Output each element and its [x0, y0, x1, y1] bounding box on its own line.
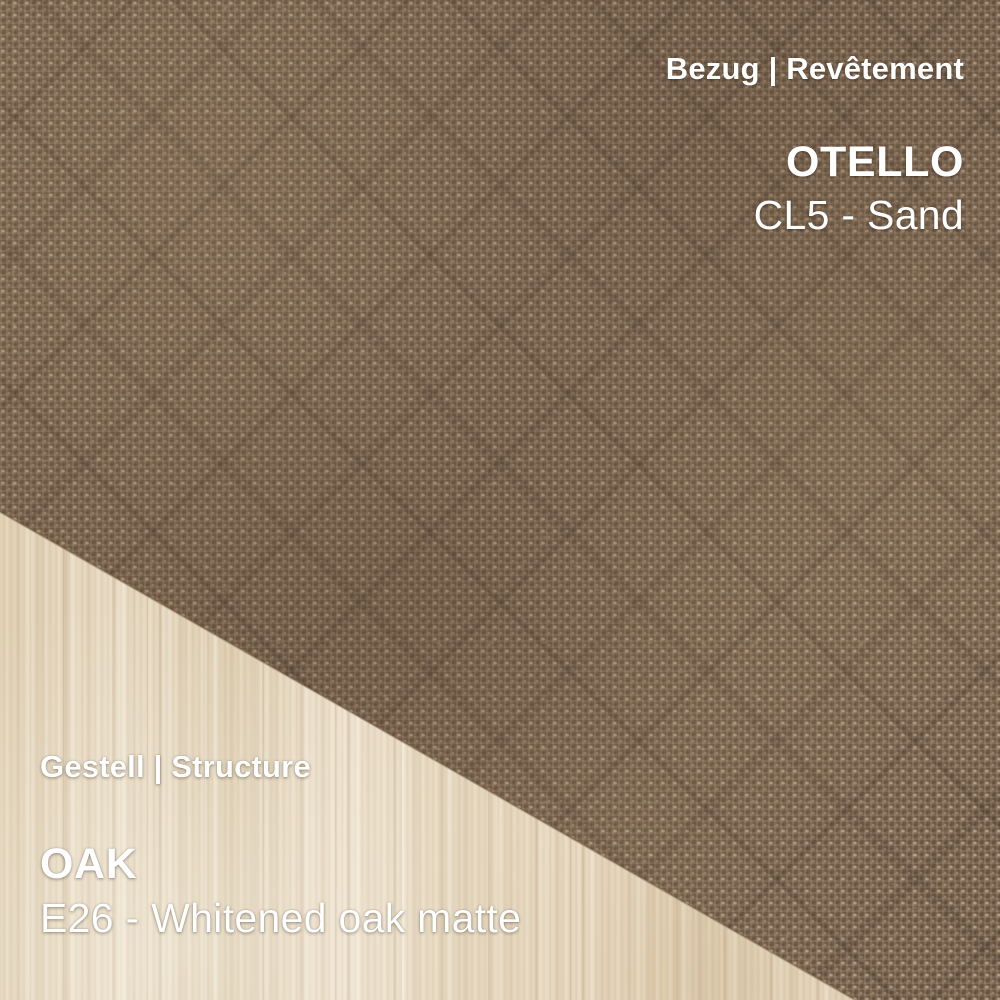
frame-code-and-finish: E26 - Whitened oak matte: [40, 896, 521, 942]
upholstery-code-and-color: CL5 - Sand: [666, 193, 964, 239]
upholstery-category-label: Bezug | Revêtement: [666, 52, 964, 87]
frame-label-block: Gestell | Structure OAK E26 - Whitened o…: [40, 750, 521, 942]
material-swatch-card: Bezug | Revêtement OTELLO CL5 - Sand Ges…: [0, 0, 1000, 1000]
upholstery-label-block: Bezug | Revêtement OTELLO CL5 - Sand: [666, 52, 964, 239]
frame-name: OAK: [40, 841, 521, 888]
upholstery-name: OTELLO: [666, 139, 964, 186]
frame-category-label: Gestell | Structure: [40, 750, 521, 785]
